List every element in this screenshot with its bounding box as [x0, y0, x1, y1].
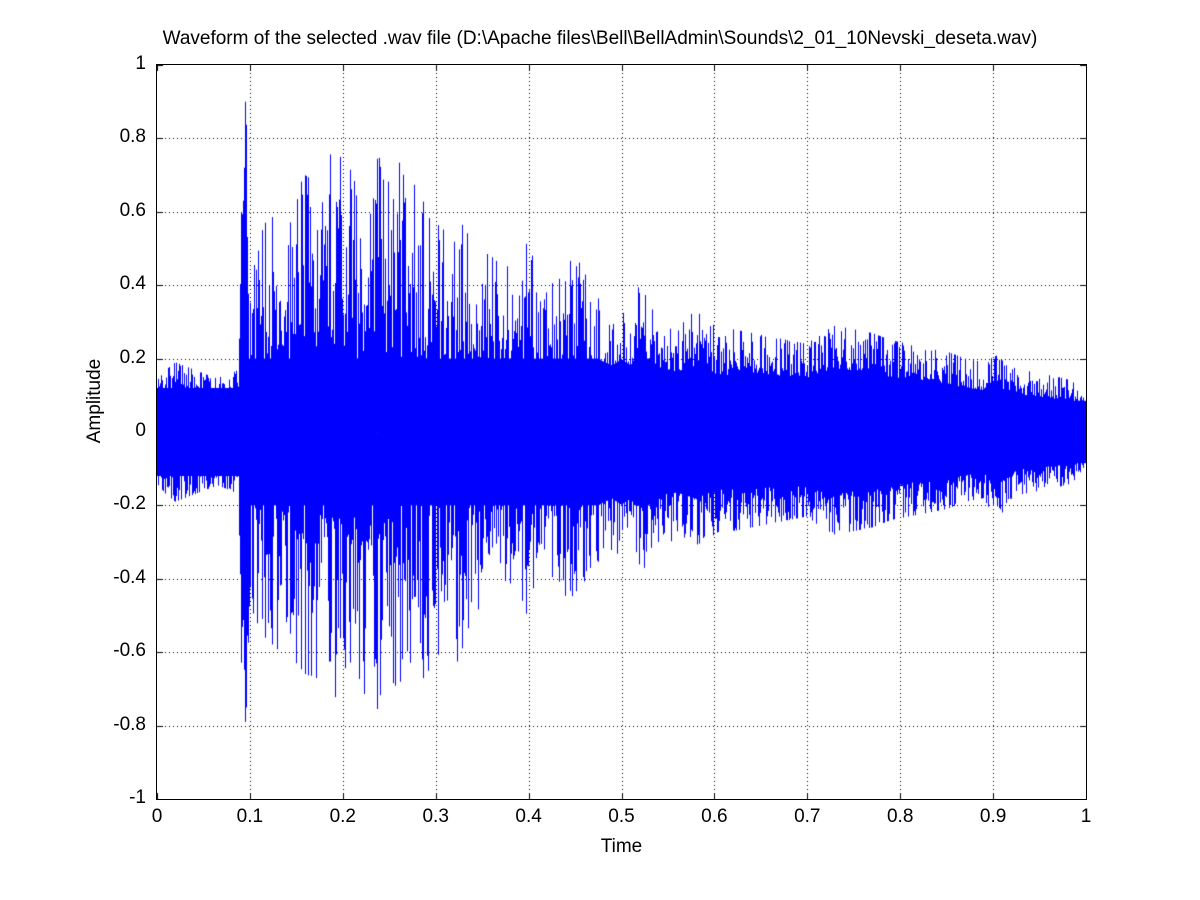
plot-axes[interactable]	[156, 64, 1087, 800]
page-title: Waveform of the selected .wav file (D:\A…	[0, 28, 1200, 50]
y-tick-label: -0.8	[113, 714, 146, 736]
x-tick-label: 1	[1046, 806, 1126, 828]
x-tick-label: 0.9	[953, 806, 1033, 828]
waveform-canvas[interactable]	[157, 65, 1086, 799]
x-tick-label: 0.5	[582, 806, 662, 828]
x-tick-label: 0.4	[489, 806, 569, 828]
x-tick-label: 0.7	[767, 806, 847, 828]
y-tick-label: -0.2	[113, 493, 146, 515]
x-tick-label: 0.2	[303, 806, 383, 828]
x-axis-label: Time	[156, 836, 1087, 858]
x-tick-label: 0	[117, 806, 197, 828]
x-tick-label: 0.3	[396, 806, 476, 828]
y-tick-label: 0.4	[120, 273, 146, 295]
y-axis-label: Amplitude	[84, 301, 106, 501]
y-tick-label: -0.6	[113, 640, 146, 662]
y-tick-label: 0.6	[120, 200, 146, 222]
x-tick-label: 0.1	[210, 806, 290, 828]
figure-container: Waveform of the selected .wav file (D:\A…	[0, 0, 1200, 900]
y-tick-label: 0.8	[120, 126, 146, 148]
y-tick-label: 0.2	[120, 347, 146, 369]
y-tick-label: 1	[135, 53, 146, 75]
x-tick-label: 0.8	[860, 806, 940, 828]
x-tick-label: 0.6	[674, 806, 754, 828]
y-tick-label: -0.4	[113, 567, 146, 589]
y-tick-label: 0	[135, 420, 146, 442]
